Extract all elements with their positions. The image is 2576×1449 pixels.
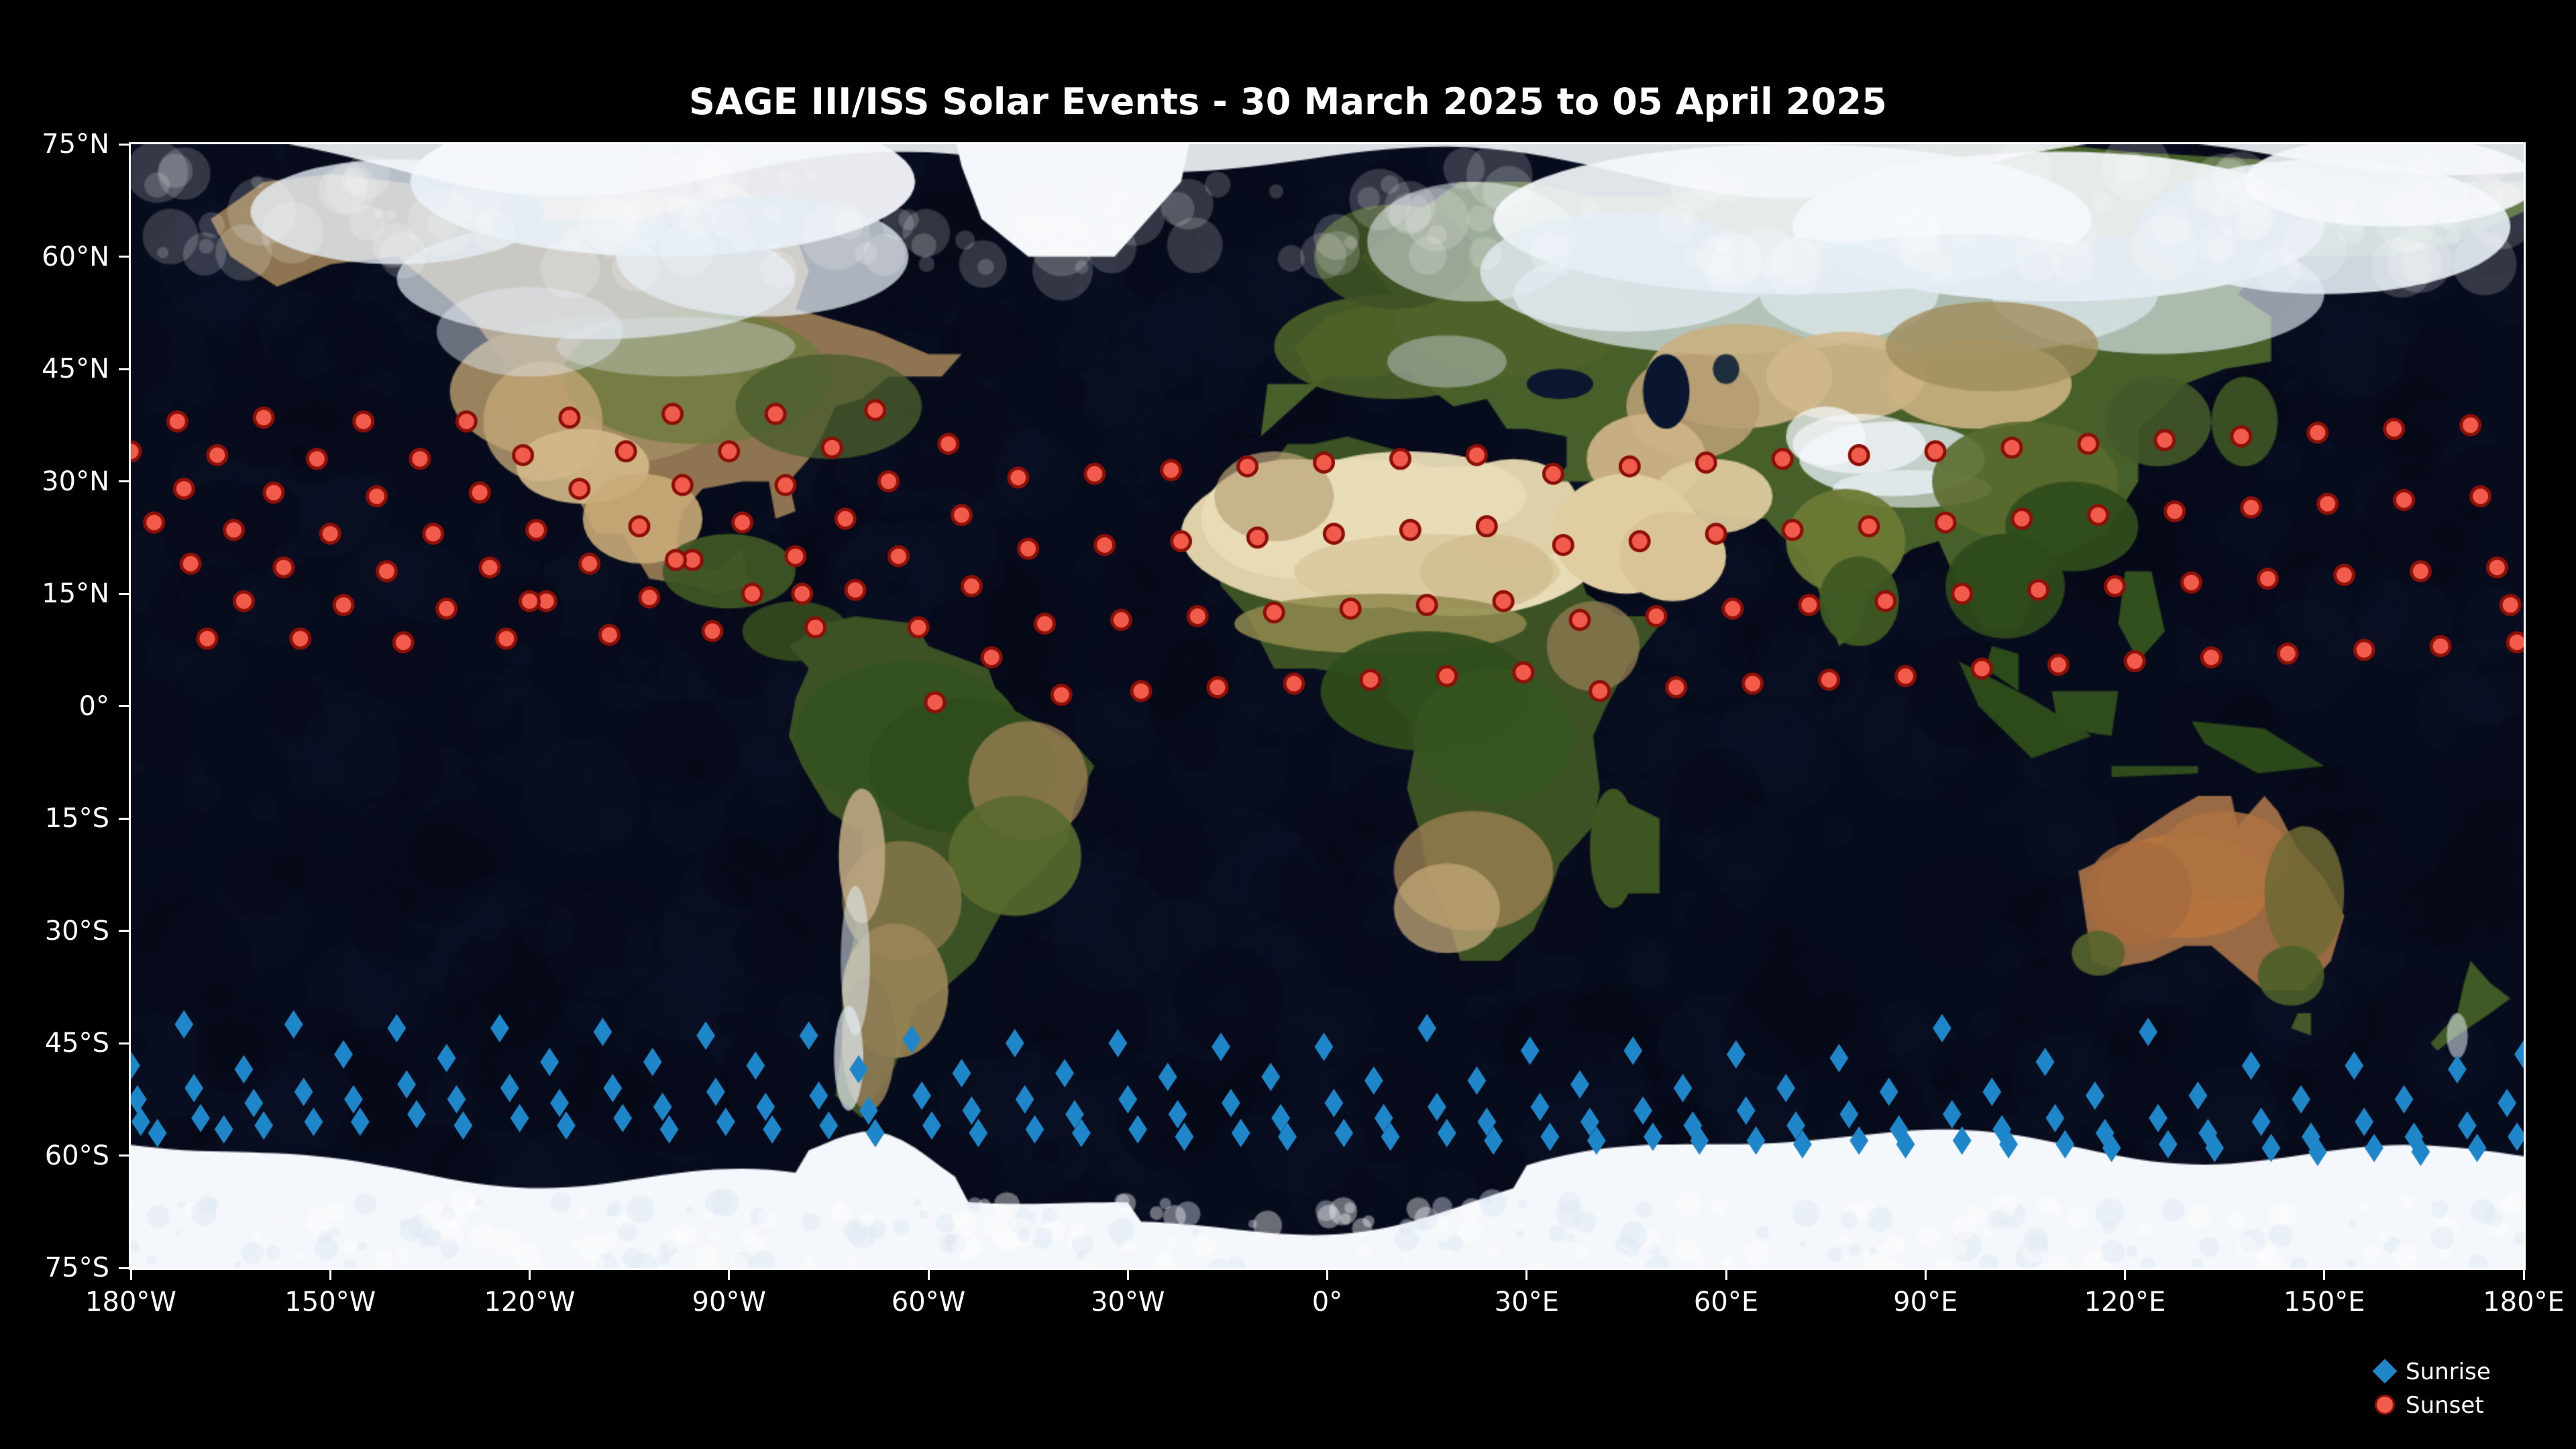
x-tick-label: 30°E — [1495, 1287, 1559, 1318]
x-tick-label: 150°W — [284, 1287, 376, 1318]
y-tick-label: 30°S — [0, 916, 109, 947]
x-tick-mark — [1326, 1269, 1328, 1280]
y-tick-label: 60°N — [0, 241, 109, 272]
y-tick-label: 15°N — [0, 578, 109, 609]
x-tick-label: 60°E — [1694, 1287, 1758, 1318]
y-tick-mark — [119, 705, 129, 707]
x-tick-mark — [329, 1269, 331, 1280]
y-tick-label: 15°S — [0, 803, 109, 834]
y-tick-label: 0° — [0, 691, 109, 722]
y-tick-mark — [119, 256, 129, 258]
solar-event-markers — [131, 144, 2524, 1268]
y-tick-label: 60°S — [0, 1140, 109, 1171]
x-tick-mark — [2124, 1269, 2126, 1280]
y-tick-label: 45°N — [0, 354, 109, 384]
legend-item-sunrise: Sunrise — [2368, 1355, 2569, 1389]
y-tick-mark — [119, 144, 129, 146]
y-tick-mark — [119, 1042, 129, 1044]
y-tick-mark — [119, 930, 129, 932]
y-tick-mark — [119, 818, 129, 820]
y-tick-mark — [119, 593, 129, 595]
legend-item-sunset: Sunset — [2368, 1389, 2569, 1422]
y-tick-label: 75°S — [0, 1252, 109, 1283]
x-tick-label: 0° — [1312, 1287, 1342, 1318]
x-tick-mark — [928, 1269, 930, 1280]
y-tick-mark — [119, 368, 129, 370]
x-tick-label: 30°W — [1091, 1287, 1165, 1318]
legend: Sunrise Sunset — [2368, 1355, 2569, 1422]
x-tick-mark — [1127, 1269, 1129, 1280]
y-tick-label: 75°N — [0, 129, 109, 160]
x-tick-label: 60°W — [892, 1287, 965, 1318]
figure-root: SAGE III/ISS Solar Events - 30 March 202… — [0, 0, 2576, 1449]
y-tick-label: 45°S — [0, 1028, 109, 1059]
x-tick-mark — [2523, 1269, 2525, 1280]
x-tick-label: 120°E — [2084, 1287, 2166, 1318]
x-tick-mark — [728, 1269, 730, 1280]
x-tick-label: 120°W — [484, 1287, 576, 1318]
x-tick-label: 150°E — [2284, 1287, 2365, 1318]
legend-label-sunrise: Sunrise — [2406, 1358, 2491, 1385]
x-tick-mark — [2323, 1269, 2325, 1280]
page-title: SAGE III/ISS Solar Events - 30 March 202… — [0, 80, 2576, 123]
y-tick-mark — [119, 1267, 129, 1269]
x-tick-mark — [130, 1269, 132, 1280]
x-tick-label: 90°W — [692, 1287, 766, 1318]
x-tick-label: 180°W — [85, 1287, 176, 1318]
y-tick-mark — [119, 480, 129, 482]
x-tick-mark — [1725, 1269, 1727, 1280]
x-tick-mark — [1525, 1269, 1527, 1280]
x-tick-mark — [529, 1269, 531, 1280]
y-tick-mark — [119, 1155, 129, 1157]
map-plot-area — [131, 144, 2524, 1268]
y-tick-label: 30°N — [0, 466, 109, 497]
legend-label-sunset: Sunset — [2406, 1392, 2484, 1419]
diamond-icon — [2368, 1358, 2406, 1385]
x-tick-label: 90°E — [1893, 1287, 1957, 1318]
x-tick-label: 180°E — [2483, 1287, 2565, 1318]
x-tick-mark — [1925, 1269, 1927, 1280]
circle-icon — [2368, 1392, 2406, 1419]
